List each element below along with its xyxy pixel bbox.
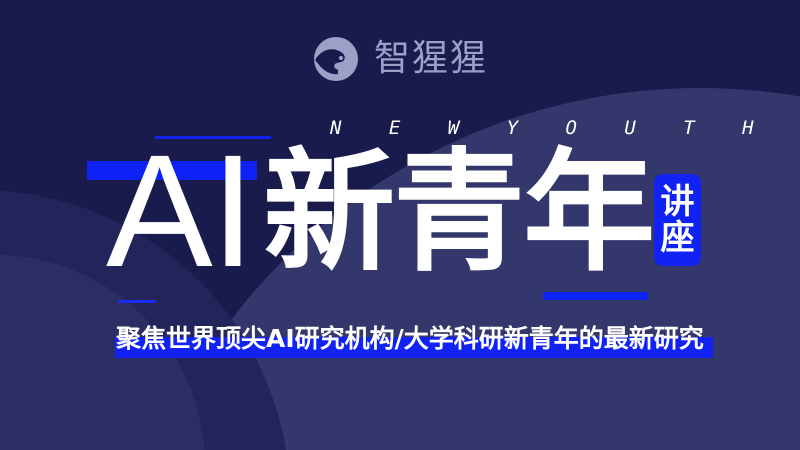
page-title: AI 新青年 [106, 137, 653, 284]
gorilla-head-circle-icon [311, 34, 361, 84]
page-title-cjk: 新青年 [263, 151, 653, 276]
lecture-badge-char-1: 讲 [661, 184, 695, 220]
lecture-badge: 讲 座 [654, 174, 701, 266]
brand-name: 智猩猩 [374, 41, 488, 77]
accent-bar-bottom-right [543, 292, 648, 300]
subtitle-text: 聚焦世界顶尖AI研究机构/大学科研新青年的最新研究 [116, 326, 704, 351]
accent-rule-bottom-left [118, 300, 156, 303]
brand-logo: 智猩猩 [311, 34, 488, 84]
poster-canvas: 智猩猩 N E W Y O U T H AI 新青年 讲 座 聚焦世界顶尖AI研… [0, 0, 800, 450]
lecture-badge-char-2: 座 [661, 220, 695, 256]
page-title-latin: AI [106, 137, 253, 284]
